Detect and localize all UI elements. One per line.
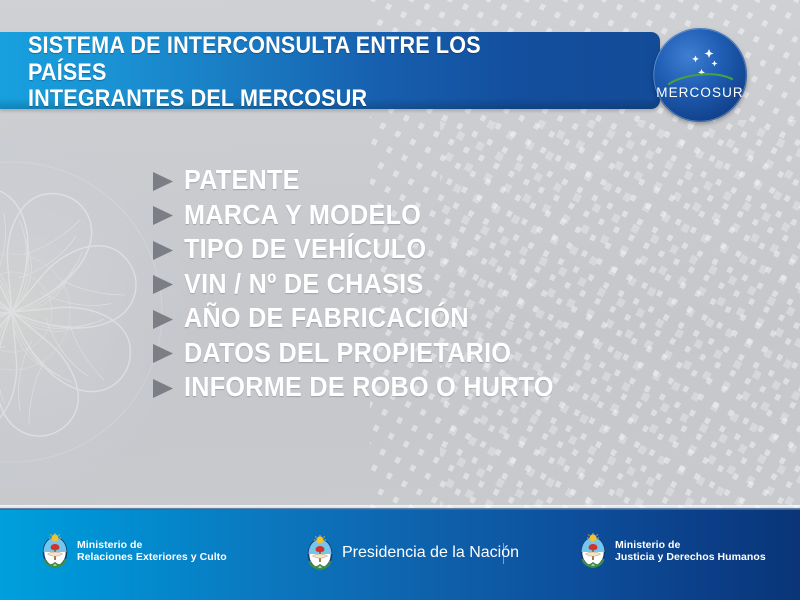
list-item-label: AÑO DE FABRICACIÓN — [184, 303, 469, 333]
argentina-coat-of-arms-icon — [40, 532, 70, 570]
footer-bar: Ministerio de Relaciones Exteriores y Cu… — [0, 508, 800, 600]
footer-logo-label: Ministerio de Justicia y Derechos Humano… — [615, 539, 766, 564]
list-item-label: INFORME DE ROBO O HURTO — [184, 372, 554, 402]
list-item: VIN / Nº DE CHASIS — [152, 267, 712, 302]
bullet-list: PATENTE MARCA Y MODELO TIPO DE VEHÍCULO … — [152, 163, 712, 405]
presentation-slide: SISTEMA DE INTERCONSULTA ENTRE LOS PAÍSE… — [0, 0, 800, 600]
footer-logo-relaciones-exteriores: Ministerio de Relaciones Exteriores y Cu… — [40, 532, 227, 570]
argentina-coat-of-arms-icon — [578, 532, 608, 570]
list-item: AÑO DE FABRICACIÓN — [152, 301, 712, 336]
list-item: MARCA Y MODELO — [152, 198, 712, 233]
list-item-label: DATOS DEL PROPIETARIO — [184, 338, 511, 368]
svg-text:MERCOSUR: MERCOSUR — [656, 85, 744, 100]
triangle-right-icon — [152, 171, 174, 192]
list-item-label: TIPO DE VEHÍCULO — [184, 234, 426, 264]
footer-logo-label: Presidencia de la Nación — [342, 544, 519, 562]
list-item: INFORME DE ROBO O HURTO — [152, 370, 712, 405]
footer-divider — [503, 543, 504, 564]
triangle-right-icon — [152, 240, 174, 261]
triangle-right-icon — [152, 378, 174, 399]
page-title: SISTEMA DE INTERCONSULTA ENTRE LOS PAÍSE… — [28, 33, 556, 113]
argentina-coat-of-arms-icon — [305, 534, 335, 572]
triangle-right-icon — [152, 309, 174, 330]
footer-logo-presidencia: Presidencia de la Nación — [305, 534, 519, 572]
footer-logo-justicia: Ministerio de Justicia y Derechos Humano… — [578, 532, 766, 570]
list-item-label: VIN / Nº DE CHASIS — [184, 269, 423, 299]
triangle-right-icon — [152, 274, 174, 295]
mercosur-logo: MERCOSUR — [652, 27, 748, 123]
list-item-label: PATENTE — [184, 165, 300, 195]
list-item: TIPO DE VEHÍCULO — [152, 232, 712, 267]
list-item: DATOS DEL PROPIETARIO — [152, 336, 712, 371]
triangle-right-icon — [152, 343, 174, 364]
footer-logo-label: Ministerio de Relaciones Exteriores y Cu… — [77, 539, 227, 564]
triangle-right-icon — [152, 205, 174, 226]
list-item-label: MARCA Y MODELO — [184, 200, 421, 230]
list-item: PATENTE — [152, 163, 712, 198]
